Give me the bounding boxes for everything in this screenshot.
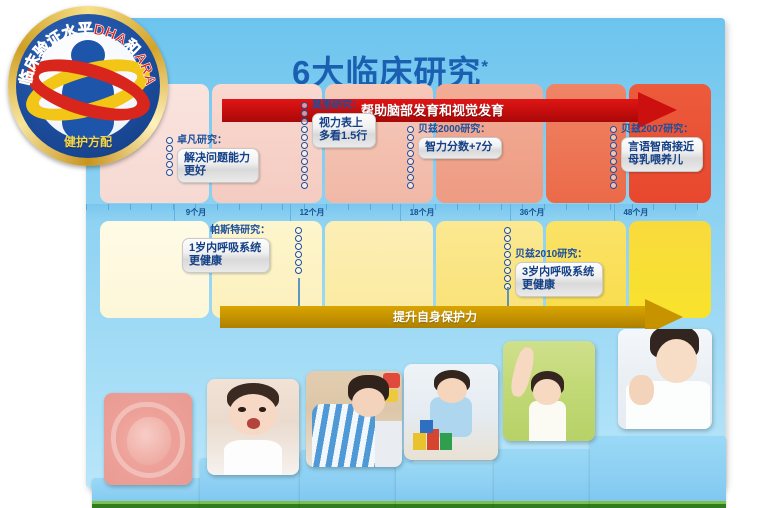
block-green	[440, 433, 452, 450]
stair-step-4	[396, 463, 508, 508]
infant-eye-right	[259, 407, 266, 412]
stair-step-6	[590, 436, 726, 508]
block-blue	[420, 420, 433, 433]
crawling-toddler-photo	[306, 371, 402, 467]
block-yellow	[413, 433, 425, 450]
stair-step-edge	[92, 501, 216, 504]
child-hand	[629, 375, 653, 405]
infant-eye-left	[238, 407, 245, 412]
stair-step-edge	[200, 501, 316, 504]
fetus-ultrasound-photo	[104, 393, 192, 485]
infant-mouth	[247, 418, 261, 429]
child-face	[656, 339, 697, 383]
stair-step-edge	[590, 501, 726, 504]
child-waving-in-grass-photo	[503, 341, 595, 441]
certification-badge: 临床验证水平DHA和ARA 健护方配	[8, 6, 168, 166]
badge-arc-top-text: 临床验证水平DHA和ARA	[16, 21, 159, 87]
child-body	[529, 401, 566, 441]
toddler-face	[352, 388, 385, 417]
child-face	[533, 379, 561, 405]
toddler-with-blocks-photo	[404, 364, 498, 460]
infant-body	[224, 440, 283, 475]
badge-bottom-text: 健护方配	[8, 133, 168, 150]
child-writing-photo	[618, 329, 712, 429]
infographic-root: 6大临床研究* 帮助脑部发育和视觉发育 卓凡研究： 解决问题能力 更好	[0, 0, 770, 507]
stair-step-edge	[396, 501, 508, 504]
fetus-shape	[127, 417, 171, 465]
smiling-infant-photo	[207, 379, 299, 475]
